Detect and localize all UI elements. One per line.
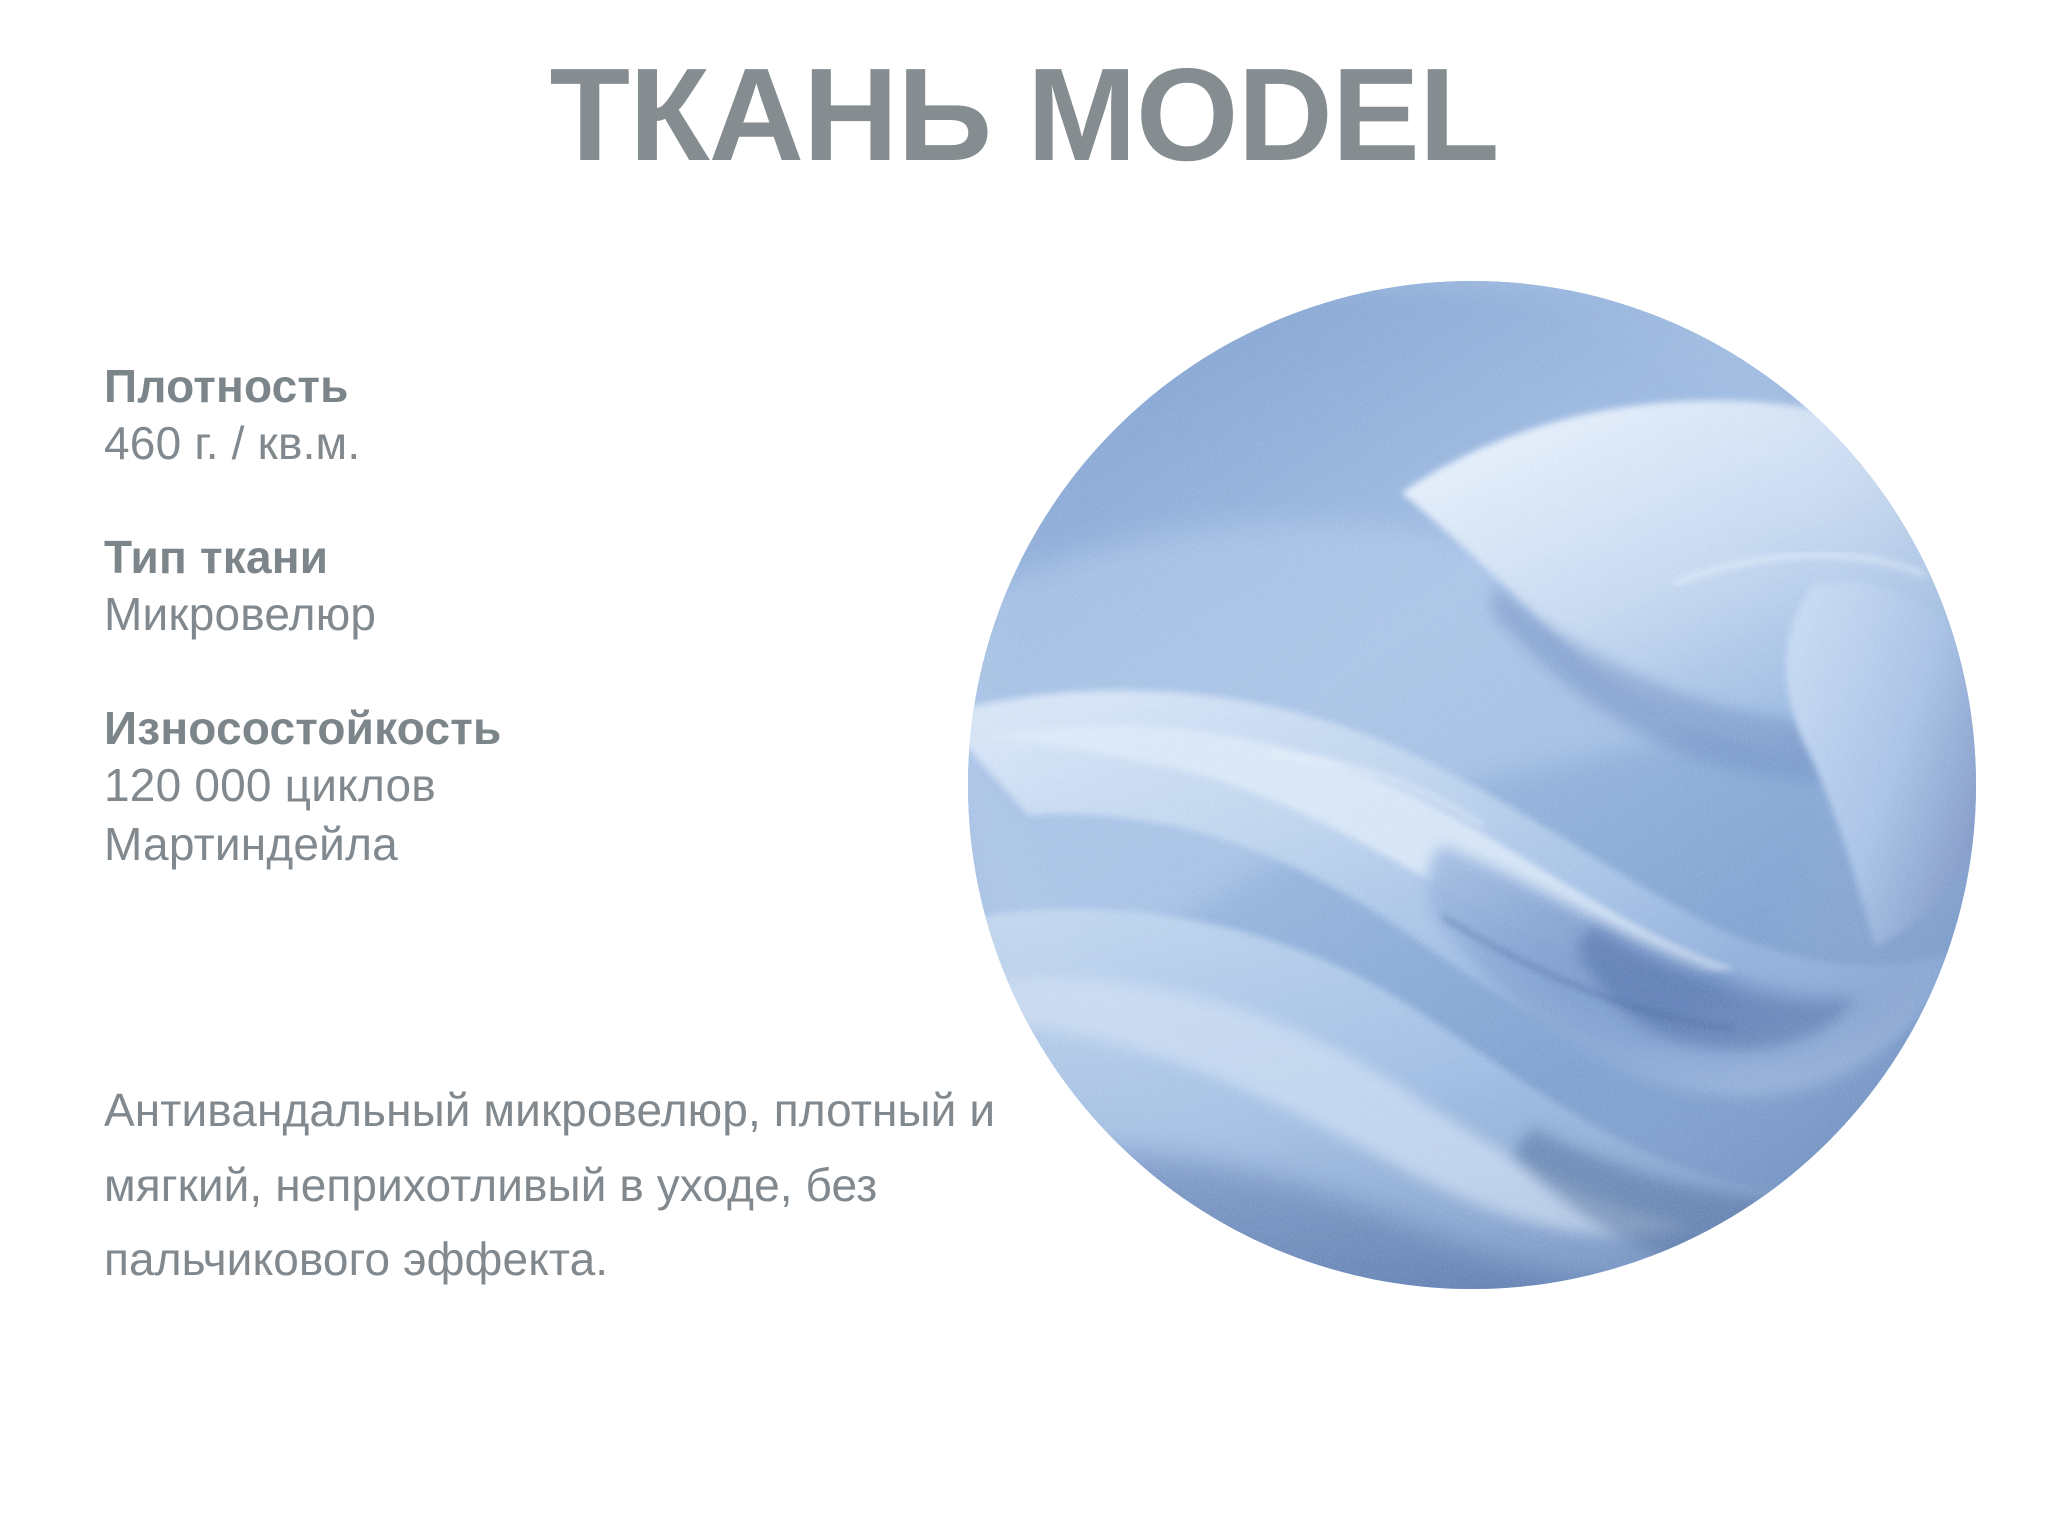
fabric-description: Антивандальный микровелюр, плотный и мяг… — [104, 1073, 1004, 1297]
spec-item-durability: Износостойкость 120 000 циклов Мартиндей… — [104, 700, 924, 874]
slide-root: ТКАНЬ MODEL Плотность 460 г. / кв.м. Тип… — [0, 0, 2048, 1536]
fabric-illustration — [968, 281, 1976, 1289]
page-title: ТКАНЬ MODEL — [0, 46, 2048, 185]
spec-value: 120 000 циклов Мартиндейла — [104, 756, 924, 874]
spec-list: Плотность 460 г. / кв.м. Тип ткани Микро… — [104, 358, 924, 874]
spec-label: Тип ткани — [104, 529, 924, 585]
spec-label: Износостойкость — [104, 700, 924, 756]
spec-item-fabric-type: Тип ткани Микровелюр — [104, 529, 924, 644]
spec-value: 460 г. / кв.м. — [104, 414, 924, 473]
spec-label: Плотность — [104, 358, 924, 414]
spec-item-density: Плотность 460 г. / кв.м. — [104, 358, 924, 473]
fabric-swatch-photo — [968, 281, 1976, 1289]
spec-value: Микровелюр — [104, 585, 924, 644]
